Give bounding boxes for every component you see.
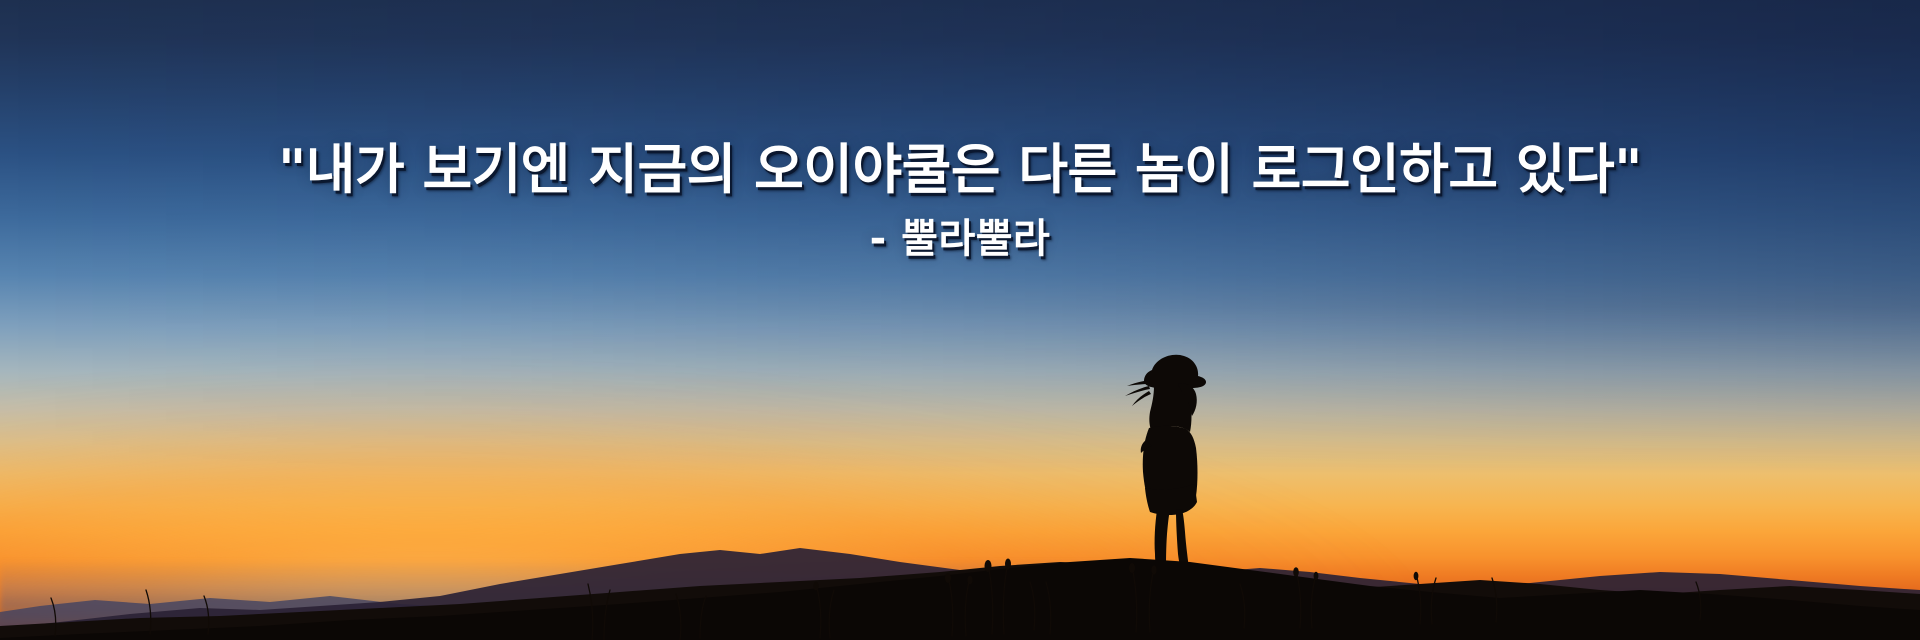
quote-banner: "내가 보기엔 지금의 오이야쿨은 다른 놈이 로그인하고 있다" - 뿔라뿔라: [0, 0, 1920, 640]
foreground-grass: [0, 500, 1920, 640]
quote-text-block: "내가 보기엔 지금의 오이야쿨은 다른 놈이 로그인하고 있다" - 뿔라뿔라: [0, 140, 1920, 262]
quote-line: "내가 보기엔 지금의 오이야쿨은 다른 놈이 로그인하고 있다": [0, 140, 1920, 200]
attribution-line: - 뿔라뿔라: [0, 216, 1920, 262]
